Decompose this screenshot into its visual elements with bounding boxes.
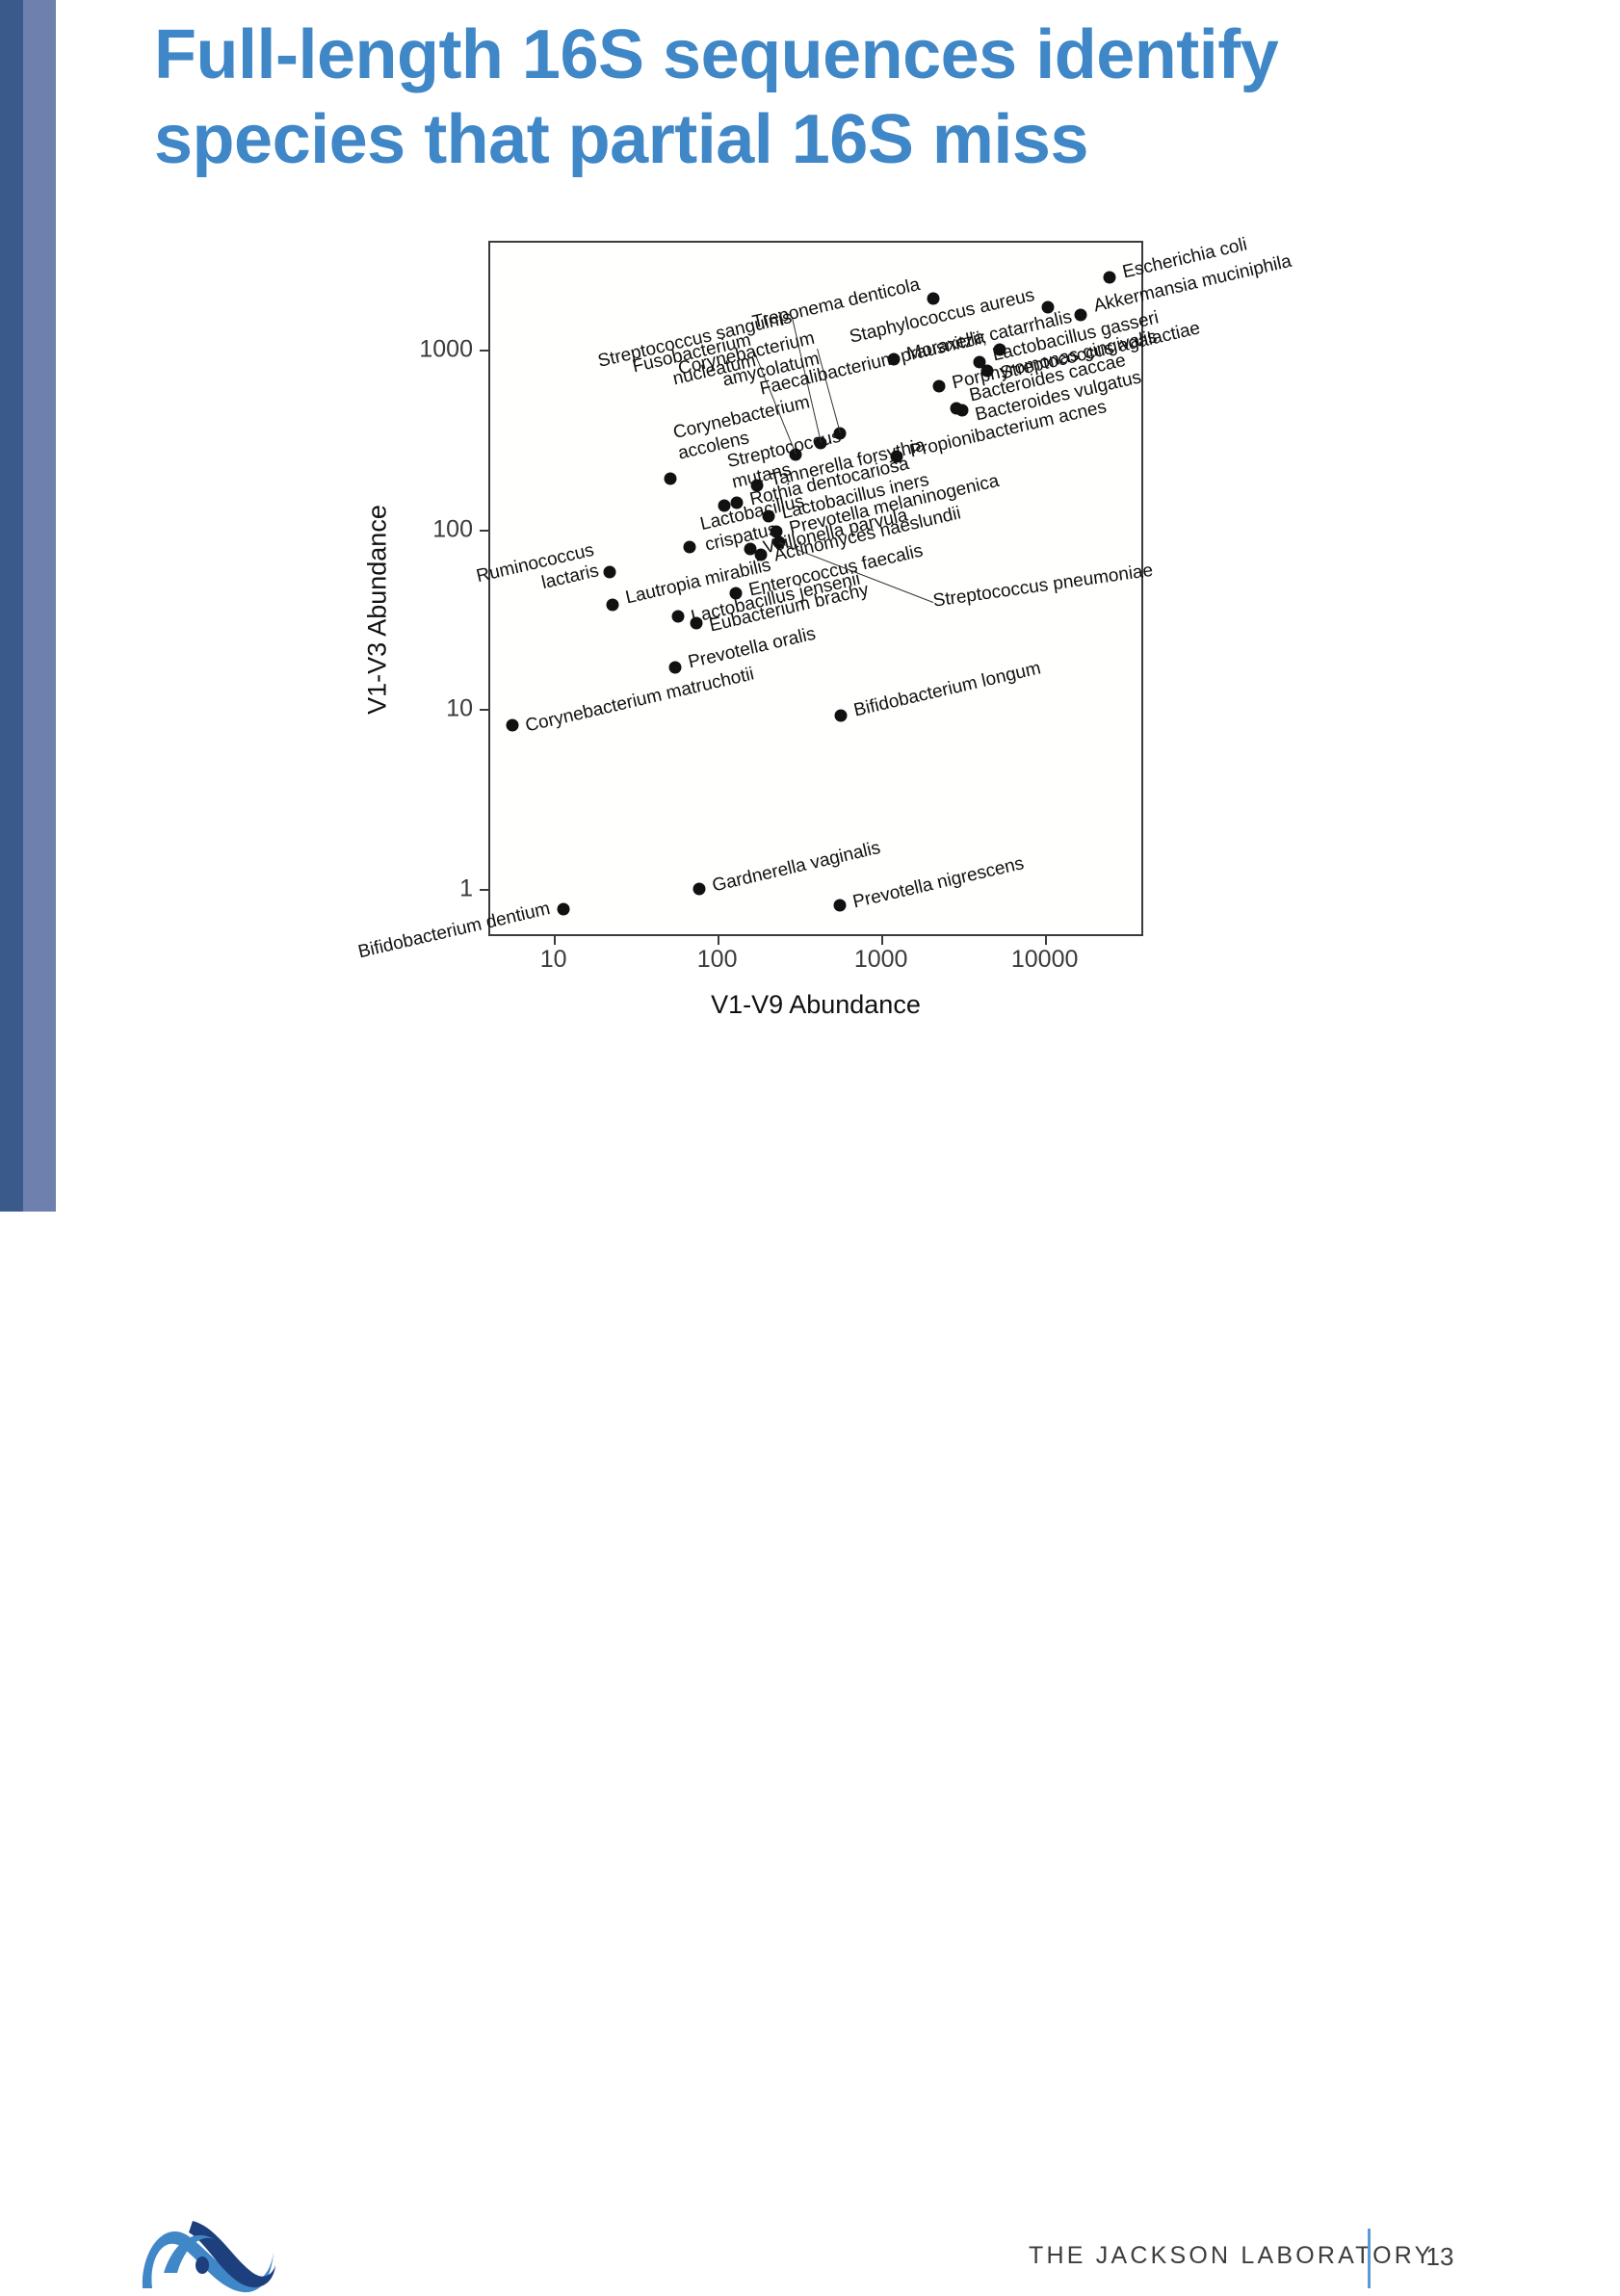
y-axis-tick-label: 100 — [432, 515, 473, 543]
y-axis-tick-mark — [480, 350, 488, 352]
x-axis-label: V1-V9 Abundance — [488, 990, 1143, 1020]
scatter-chart: Corynebacterium matruchotiiBifidobacteri… — [387, 229, 1447, 990]
x-axis-tick-label: 10 — [540, 946, 567, 974]
x-axis-tick-label: 100 — [697, 946, 738, 974]
data-point-label: Bifidobacterium longum — [852, 660, 1043, 722]
sidebar-accent-bar-inner — [23, 0, 56, 1212]
x-axis-tick-mark — [1045, 936, 1047, 945]
footer-divider — [1368, 2229, 1371, 2288]
y-axis-tick-label: 1000 — [419, 335, 473, 363]
organization-wordmark: THE JACKSON LABORATORY — [1029, 2242, 1434, 2270]
slide-footer: THE JACKSON LABORATORY 13 — [0, 1108, 1620, 1212]
x-axis-tick-mark — [718, 936, 719, 945]
y-axis-tick-label: 10 — [446, 695, 473, 723]
data-point-label: Bifidobacterium dentium — [356, 900, 552, 963]
data-point-label: Gardnerella vaginalis — [711, 839, 883, 897]
page-title: Full-length 16S sequences identify speci… — [154, 13, 1464, 183]
point-labels-layer: Corynebacterium matruchotiiBifidobacteri… — [387, 229, 1447, 990]
data-point-label: Ruminococcus lactaris — [475, 539, 601, 608]
y-axis-label: V1-V3 Abundance — [363, 505, 393, 715]
x-axis-tick-label: 1000 — [854, 946, 908, 974]
x-axis-tick-mark — [554, 936, 556, 945]
data-point-label: Streptococcus pneumoniae — [932, 561, 1155, 612]
y-axis-tick-label: 1 — [459, 875, 473, 903]
jackson-laboratory-logo — [135, 2213, 279, 2296]
x-axis-tick-label: 10000 — [1011, 946, 1079, 974]
data-point-label: Corynebacterium matruchotii — [524, 665, 756, 737]
y-axis-tick-mark — [480, 889, 488, 891]
x-axis-tick-mark — [881, 936, 883, 945]
page-number: 13 — [1401, 2242, 1478, 2272]
data-point-label: Prevotella nigrescens — [851, 854, 1027, 913]
sidebar-accent-bar-outer — [0, 0, 23, 1212]
y-axis-tick-mark — [480, 530, 488, 532]
y-axis-tick-mark — [480, 709, 488, 711]
